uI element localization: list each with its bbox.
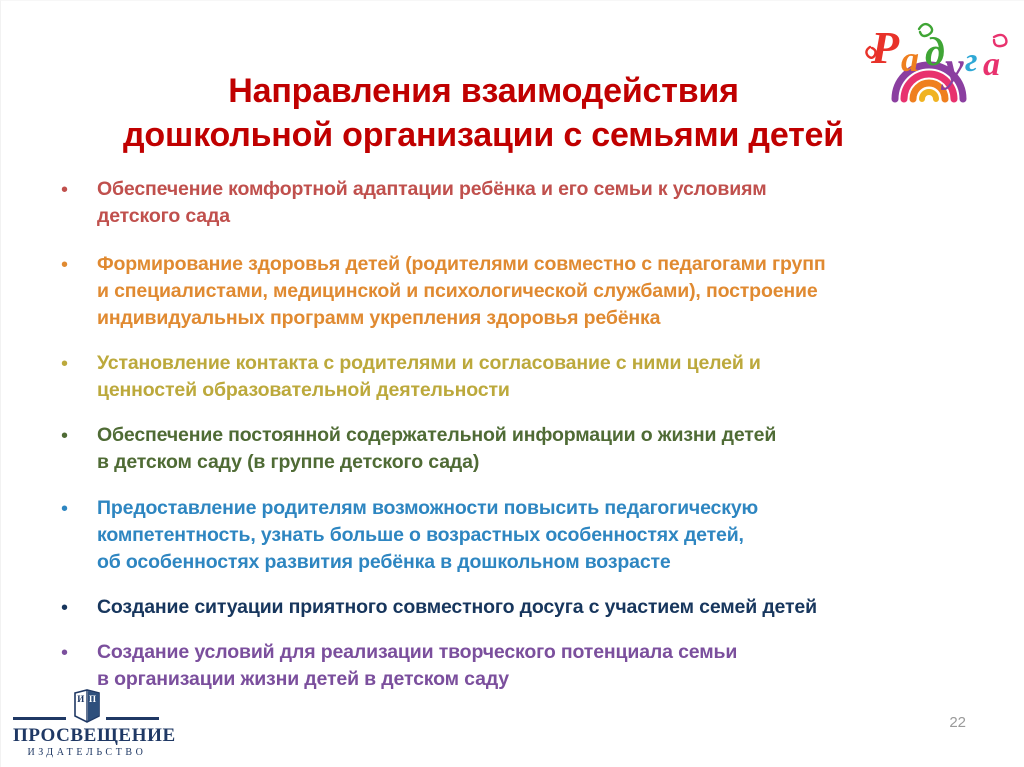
bullet-line: Предоставление родителям возможности пов… bbox=[97, 495, 983, 522]
bullet-list: Обеспечение комфортной адаптации ребёнка… bbox=[53, 176, 983, 693]
list-item: Создание ситуации приятного совместного … bbox=[53, 594, 983, 622]
bullet-text-information: Обеспечение постоянной содержательной ин… bbox=[97, 422, 983, 476]
bullet-line: об особенностях развития ребёнка в дошко… bbox=[97, 549, 983, 576]
svg-text:П: П bbox=[89, 694, 96, 704]
bullet-marker-icon bbox=[53, 350, 97, 378]
bullet-line: компетентность, узнать больше о возрастн… bbox=[97, 522, 983, 549]
bullet-line: детского сада bbox=[97, 203, 983, 230]
bullet-line: в детском саду (в группе детского сада) bbox=[97, 449, 983, 476]
bullet-marker-icon bbox=[53, 176, 97, 204]
bullet-marker-icon bbox=[53, 422, 97, 450]
bullet-marker-icon bbox=[53, 639, 97, 667]
bullet-line: ценностей образовательной деятельности bbox=[97, 377, 983, 404]
bullet-text-contact: Установление контакта с родителями и сог… bbox=[97, 350, 983, 404]
publisher-mark: И П bbox=[11, 689, 191, 729]
bullet-text-creativity: Создание условий для реализации творческ… bbox=[97, 639, 983, 693]
bullet-marker-icon bbox=[53, 251, 97, 279]
bullet-text-competence: Предоставление родителям возможности пов… bbox=[97, 495, 983, 576]
presentation-slide: Р а д у г а Направления взаимодействия д… bbox=[0, 0, 1024, 767]
list-item: Установление контакта с родителями и сог… bbox=[53, 350, 983, 404]
list-item: Создание условий для реализации творческ… bbox=[53, 639, 983, 693]
bullet-line: и специалистами, медицинской и психологи… bbox=[97, 278, 983, 305]
list-item: Обеспечение постоянной содержательной ин… bbox=[53, 422, 983, 476]
bullet-marker-icon bbox=[53, 594, 97, 622]
svg-text:Р: Р bbox=[870, 22, 900, 73]
svg-text:г: г bbox=[965, 42, 978, 79]
bullet-line: Установление контакта с родителями и сог… bbox=[97, 350, 983, 377]
title-line-1: Направления взаимодействия bbox=[61, 70, 906, 114]
rule-left bbox=[13, 717, 66, 720]
svg-text:а: а bbox=[983, 46, 1000, 83]
page-title: Направления взаимодействия дошкольной ор… bbox=[61, 70, 906, 157]
title-line-2: дошкольной организации с семьями детей bbox=[61, 114, 906, 158]
page-number: 22 bbox=[949, 714, 966, 731]
list-item: Обеспечение комфортной адаптации ребёнка… bbox=[53, 176, 983, 230]
list-item: Формирование здоровья детей (родителями … bbox=[53, 251, 983, 332]
list-item: Предоставление родителям возможности пов… bbox=[53, 495, 983, 576]
bullet-line: Создание условий для реализации творческ… bbox=[97, 639, 983, 666]
bullet-line: Обеспечение комфортной адаптации ребёнка… bbox=[97, 176, 983, 203]
book-icon: И П bbox=[74, 689, 100, 723]
svg-text:д: д bbox=[925, 29, 945, 74]
publisher-name: ПРОСВЕЩЕНИЕ bbox=[13, 725, 161, 747]
bullet-text-leisure: Создание ситуации приятного совместного … bbox=[97, 594, 983, 621]
bullet-line: индивидуальных программ укрепления здоро… bbox=[97, 305, 983, 332]
bullet-line: Обеспечение постоянной содержательной ин… bbox=[97, 422, 983, 449]
prosveshchenie-logo: И П ПРОСВЕЩЕНИЕ ИЗДАТЕЛЬСТВО bbox=[11, 689, 191, 761]
bullet-text-health: Формирование здоровья детей (родителями … bbox=[97, 251, 983, 332]
bullet-line: Создание ситуации приятного совместного … bbox=[97, 594, 983, 621]
publisher-subtitle: ИЗДАТЕЛЬСТВО bbox=[13, 747, 161, 758]
rule-right bbox=[106, 717, 159, 720]
svg-text:И: И bbox=[77, 694, 84, 704]
bullet-line: Формирование здоровья детей (родителями … bbox=[97, 251, 983, 278]
bullet-text-adaptation: Обеспечение комфортной адаптации ребёнка… bbox=[97, 176, 983, 230]
bullet-line: в организации жизни детей в детском саду bbox=[97, 666, 983, 693]
bullet-marker-icon bbox=[53, 495, 97, 523]
